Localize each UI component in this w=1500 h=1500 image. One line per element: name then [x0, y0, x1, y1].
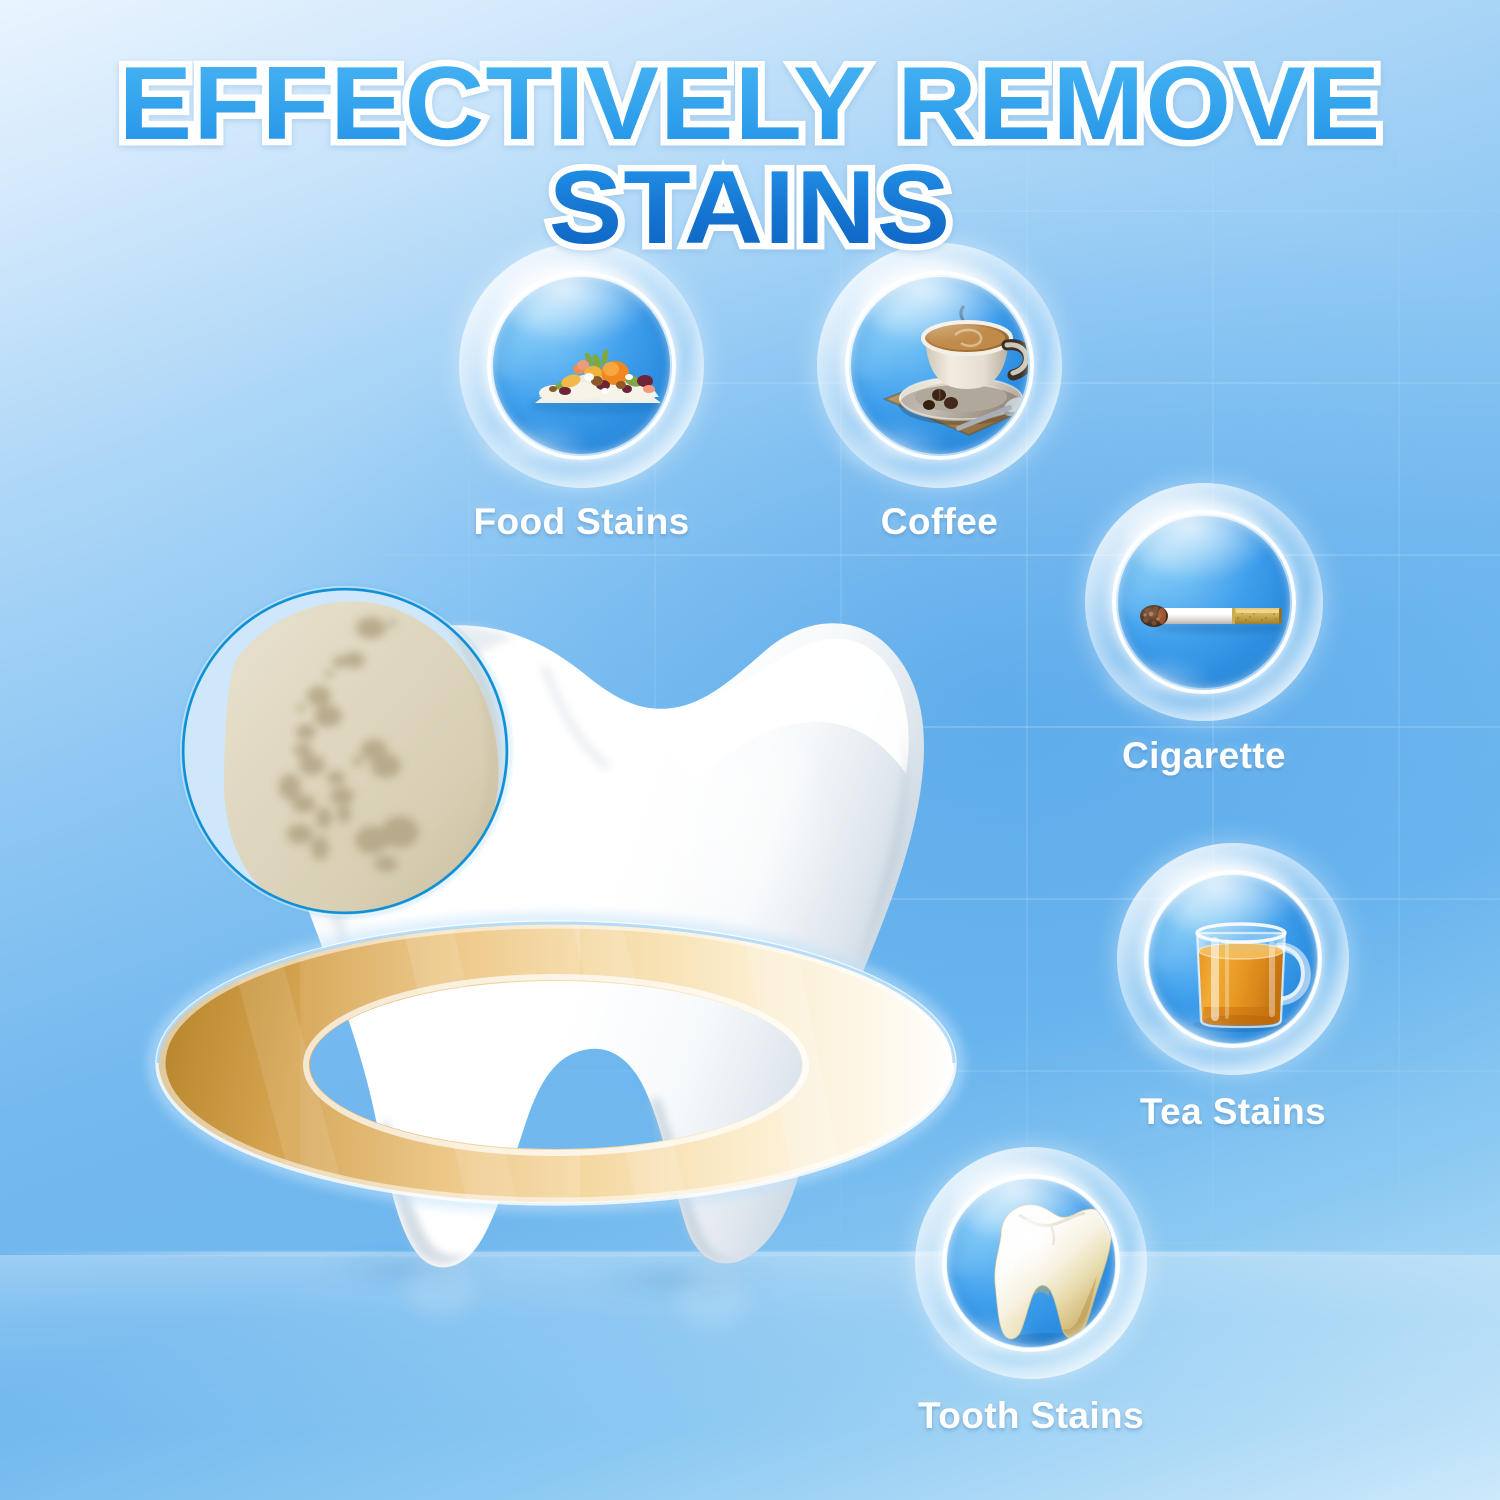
bubble-label-tooth: Tooth Stains — [918, 1395, 1144, 1437]
magnifier-stain-closeup — [176, 582, 514, 920]
stain-source-bubble-food[interactable]: Food Stains — [459, 243, 704, 488]
stain-ring — [150, 915, 962, 1215]
stain-source-bubble-coffee[interactable]: Coffee — [817, 243, 1062, 488]
bubble-inner-ring — [487, 271, 676, 460]
headline-block: EFFECTIVELY REMOVE STAINS EFFECTIVELY RE… — [0, 52, 1500, 162]
bubble-label-food: Food Stains — [473, 501, 689, 543]
bubble-inner-ring — [1144, 870, 1323, 1049]
page-title: EFFECTIVELY REMOVE STAINS — [0, 52, 1500, 260]
bubble-label-tea: Tea Stains — [1140, 1091, 1326, 1133]
bubble-label-coffee: Coffee — [881, 501, 999, 543]
stain-source-bubble-tooth[interactable]: Tooth Stains — [915, 1147, 1147, 1379]
bubble-inner-ring — [845, 271, 1034, 460]
poster-canvas: EFFECTIVELY REMOVE STAINS EFFECTIVELY RE… — [0, 0, 1500, 1500]
bubble-inner-ring — [1112, 510, 1295, 693]
bubble-inner-ring — [942, 1174, 1121, 1353]
stain-source-bubble-cigarette[interactable]: Cigarette — [1085, 483, 1323, 721]
bubble-label-cigarette: Cigarette — [1122, 735, 1286, 777]
stain-source-bubble-tea[interactable]: Tea Stains — [1117, 843, 1349, 1075]
